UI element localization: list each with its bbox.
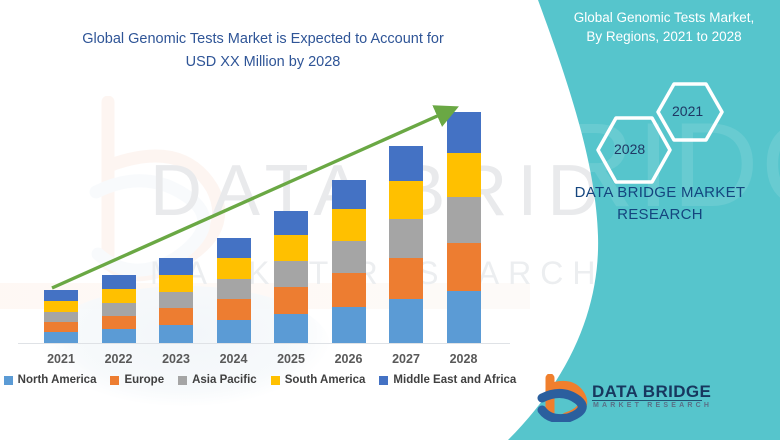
panel-brand-line-1: DATA BRIDGE MARKET [540,182,780,204]
bar-segment-asia-pacific-2026[interactable] [332,241,366,273]
bar-segment-north-america-2024[interactable] [217,320,251,343]
bar-segment-middle-east-and-africa-2025[interactable] [274,211,308,235]
bar-segment-south-america-2027[interactable] [389,181,423,219]
bar-segment-south-america-2025[interactable] [274,235,308,261]
bar-2027[interactable] [389,146,423,343]
legend-label-asia-pacific: Asia Pacific [192,374,257,386]
bar-segment-europe-2024[interactable] [217,299,251,320]
bar-segment-middle-east-and-africa-2021[interactable] [44,290,78,301]
bar-segment-north-america-2023[interactable] [159,325,193,343]
bar-2024[interactable] [217,238,251,343]
legend-label-europe: Europe [124,374,164,386]
bar-segment-europe-2022[interactable] [102,316,136,329]
legend-item-asia-pacific[interactable]: Asia Pacific [178,374,257,386]
bar-segment-north-america-2022[interactable] [102,329,136,343]
legend-swatch-middle-east-and-africa [379,376,388,385]
bar-segment-asia-pacific-2025[interactable] [274,261,308,287]
x-axis-label-2027: 2027 [376,352,436,366]
logo-subtitle: MARKET RESEARCH [593,402,712,409]
hexagon-label-2028: 2028 [614,141,645,157]
bar-2025[interactable] [274,211,308,343]
x-axis-label-2028: 2028 [434,352,494,366]
panel-title: Global Genomic Tests Market, By Regions,… [548,8,780,46]
bar-segment-middle-east-and-africa-2023[interactable] [159,258,193,275]
legend-label-south-america: South America [285,374,366,386]
bar-segment-middle-east-and-africa-2024[interactable] [217,238,251,258]
x-axis-line [18,343,510,344]
hexagon-group: 2021 2028 [588,82,738,192]
bar-segment-europe-2028[interactable] [447,243,481,291]
bar-segment-europe-2027[interactable] [389,258,423,299]
bar-segment-asia-pacific-2023[interactable] [159,292,193,308]
bar-segment-north-america-2021[interactable] [44,332,78,343]
legend-item-south-america[interactable]: South America [271,374,366,386]
bar-segment-south-america-2022[interactable] [102,289,136,303]
bar-segment-middle-east-and-africa-2022[interactable] [102,275,136,289]
panel-brand-line-2: RESEARCH [540,204,780,226]
legend-item-europe[interactable]: Europe [110,374,164,386]
bar-2026[interactable] [332,180,366,343]
legend-item-north-america[interactable]: North America [4,374,97,386]
bar-segment-north-america-2028[interactable] [447,291,481,343]
x-axis-label-2024: 2024 [204,352,264,366]
x-axis-label-2022: 2022 [89,352,149,366]
bar-segment-asia-pacific-2027[interactable] [389,219,423,258]
legend-label-middle-east-and-africa: Middle East and Africa [393,374,516,386]
bar-segment-europe-2025[interactable] [274,287,308,314]
hexagon-label-2021: 2021 [672,103,703,119]
bar-segment-europe-2026[interactable] [332,273,366,307]
legend-swatch-north-america [4,376,13,385]
bar-segment-south-america-2024[interactable] [217,258,251,279]
panel-brand-text: DATA BRIDGE MARKET RESEARCH [540,182,780,226]
bar-segment-middle-east-and-africa-2028[interactable] [447,112,481,153]
legend-swatch-europe [110,376,119,385]
bar-segment-south-america-2026[interactable] [332,209,366,241]
chart-legend: North AmericaEuropeAsia PacificSouth Ame… [0,374,520,386]
bar-segment-asia-pacific-2022[interactable] [102,303,136,316]
bar-segment-north-america-2025[interactable] [274,314,308,343]
legend-label-north-america: North America [18,374,97,386]
x-axis-label-2026: 2026 [319,352,379,366]
legend-item-middle-east-and-africa[interactable]: Middle East and Africa [379,374,516,386]
bar-2021[interactable] [44,290,78,343]
legend-swatch-asia-pacific [178,376,187,385]
bar-segment-south-america-2028[interactable] [447,153,481,197]
logo-divider [592,400,702,401]
panel-title-line-1: Global Genomic Tests Market, [548,8,780,27]
bar-2023[interactable] [159,258,193,343]
bar-2022[interactable] [102,275,136,343]
panel-title-line-2: By Regions, 2021 to 2028 [548,27,780,46]
logo-title: DATA BRIDGE [592,382,711,402]
bar-segment-asia-pacific-2021[interactable] [44,312,78,322]
bar-segment-south-america-2023[interactable] [159,275,193,292]
bar-segment-middle-east-and-africa-2026[interactable] [332,180,366,209]
bar-2028[interactable] [447,112,481,343]
x-axis-label-2021: 2021 [31,352,91,366]
bar-segment-europe-2021[interactable] [44,322,78,332]
bar-segment-middle-east-and-africa-2027[interactable] [389,146,423,181]
x-axis-label-2025: 2025 [261,352,321,366]
bar-segment-europe-2023[interactable] [159,308,193,325]
bar-segment-asia-pacific-2028[interactable] [447,197,481,243]
legend-swatch-south-america [271,376,280,385]
bar-segment-south-america-2021[interactable] [44,301,78,312]
bar-segment-asia-pacific-2024[interactable] [217,279,251,299]
bar-segment-north-america-2027[interactable] [389,299,423,343]
bar-segment-north-america-2026[interactable] [332,307,366,343]
infographic-canvas: DATA BRIDGE MARKET RESEARCH BRIDGE Globa… [0,0,780,440]
x-axis-label-2023: 2023 [146,352,206,366]
